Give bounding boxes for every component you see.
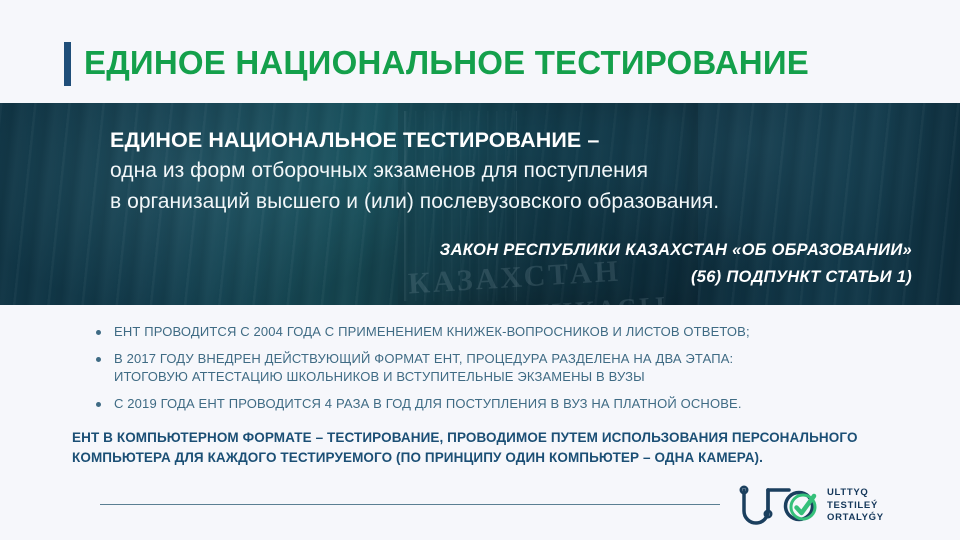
statement-line-1: ЕНТ В КОМПЬЮТЕРНОМ ФОРМАТЕ – ТЕСТИРОВАНИ…	[72, 428, 902, 448]
citation-block: ЗАКОН РЕСПУБЛИКИ КАЗАХСТАН «ОБ ОБРАЗОВАН…	[440, 237, 912, 291]
logo-text-line-1: ULTTYQ	[827, 487, 884, 500]
list-item: ЕНТ ПРОВОДИТСЯ С 2004 ГОДА С ПРИМЕНЕНИЕМ…	[96, 323, 896, 341]
banner-content: ЕДИНОЕ НАЦИОНАЛЬНОЕ ТЕСТИРОВАНИЕ – одна …	[0, 103, 960, 305]
slide-root: ЕДИНОЕ НАЦИОНАЛЬНОЕ ТЕСТИРОВАНИЕ КАЗАХСТ…	[0, 0, 960, 540]
uto-logo-text: ULTTYQ TESTILEÝ ORTALYǴY	[827, 487, 884, 525]
header-accent-bar	[64, 42, 71, 86]
statement-line-2: КОМПЬЮТЕРА ДЛЯ КАЖДОГО ТЕСТИРУЕМОГО (ПО …	[72, 448, 902, 468]
slide-header: ЕДИНОЕ НАЦИОНАЛЬНОЕ ТЕСТИРОВАНИЕ	[0, 0, 960, 103]
list-item-text: В 2017 ГОДУ ВНЕДРЕН ДЕЙСТВУЮЩИЙ ФОРМАТ Е…	[114, 350, 733, 386]
logo-text-line-3: ORTALYǴY	[827, 512, 884, 525]
page-title: ЕДИНОЕ НАЦИОНАЛЬНОЕ ТЕСТИРОВАНИЕ	[84, 38, 809, 88]
bullet-dot-icon	[96, 357, 101, 362]
list-item-line-sub: ИТОГОВУЮ АТТЕСТАЦИЮ ШКОЛЬНИКОВ И ВСТУПИТ…	[114, 368, 733, 386]
list-item-line-main: С 2019 ГОДА ЕНТ ПРОВОДИТСЯ 4 РАЗА В ГОД …	[114, 396, 742, 411]
list-item: С 2019 ГОДА ЕНТ ПРОВОДИТСЯ 4 РАЗА В ГОД …	[96, 395, 896, 413]
definition-line-2: одна из форм отборочных экзаменов для по…	[110, 155, 940, 186]
definition-banner: КАЗАХСТАН РЕСПУБЛИКАСЫ ЕДИНОЕ НАЦИОНАЛЬН…	[0, 103, 960, 305]
citation-line-2: (56) ПОДПУНКТ СТАТЬИ 1)	[440, 264, 912, 291]
facts-bullet-list: ЕНТ ПРОВОДИТСЯ С 2004 ГОДА С ПРИМЕНЕНИЕМ…	[96, 323, 896, 422]
list-item: В 2017 ГОДУ ВНЕДРЕН ДЕЙСТВУЮЩИЙ ФОРМАТ Е…	[96, 350, 896, 386]
highlight-statement: ЕНТ В КОМПЬЮТЕРНОМ ФОРМАТЕ – ТЕСТИРОВАНИ…	[72, 428, 902, 468]
list-item-line-main: В 2017 ГОДУ ВНЕДРЕН ДЕЙСТВУЮЩИЙ ФОРМАТ Е…	[114, 351, 733, 366]
list-item-line-main: ЕНТ ПРОВОДИТСЯ С 2004 ГОДА С ПРИМЕНЕНИЕМ…	[114, 324, 750, 339]
definition-text-block: ЕДИНОЕ НАЦИОНАЛЬНОЕ ТЕСТИРОВАНИЕ – одна …	[110, 125, 940, 217]
uto-logo: ULTTYQ TESTILEÝ ORTALYǴY	[737, 483, 884, 529]
definition-term: ЕДИНОЕ НАЦИОНАЛЬНОЕ ТЕСТИРОВАНИЕ –	[110, 125, 940, 155]
logo-text-line-2: TESTILEÝ	[827, 500, 884, 513]
citation-line-1: ЗАКОН РЕСПУБЛИКИ КАЗАХСТАН «ОБ ОБРАЗОВАН…	[440, 237, 912, 264]
bullet-dot-icon	[96, 330, 101, 335]
footer-divider	[100, 504, 720, 505]
bullet-dot-icon	[96, 402, 101, 407]
list-item-text: С 2019 ГОДА ЕНТ ПРОВОДИТСЯ 4 РАЗА В ГОД …	[114, 395, 742, 413]
definition-line-3: в организаций высшего и (или) послевузов…	[110, 186, 940, 217]
uto-monogram-icon	[737, 483, 821, 529]
list-item-text: ЕНТ ПРОВОДИТСЯ С 2004 ГОДА С ПРИМЕНЕНИЕМ…	[114, 323, 750, 341]
